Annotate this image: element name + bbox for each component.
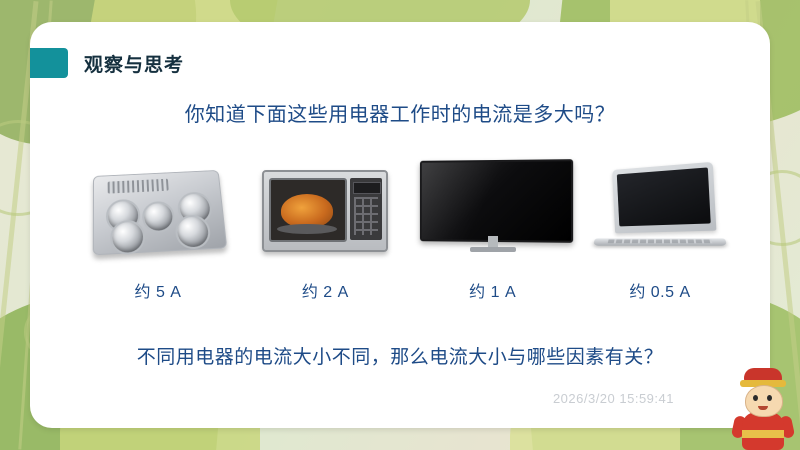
question-bottom: 不同用电器的电流大小不同，那么电流大小与哪些因素有关？: [30, 342, 770, 369]
device-image: [245, 142, 405, 252]
microwave-oven-icon: [262, 170, 388, 252]
device-image: [413, 142, 573, 252]
device-current-label: 约 2 A: [245, 278, 405, 302]
heater-bulb: [110, 219, 146, 255]
microwave-keypad: [354, 197, 378, 235]
slide-root: 观察与思考 你知道下面这些用电器工作时的电流是多大吗？ 约 5 A: [0, 0, 800, 450]
heater-bulb: [142, 201, 176, 234]
laptop-screen: [617, 167, 711, 226]
device-item-microwave-oven: 约 2 A: [245, 142, 405, 302]
section-title: 观察与思考: [84, 50, 184, 77]
microwave-control-panel: [350, 178, 382, 240]
television-icon: [418, 160, 568, 252]
device-current-label: 约 0.5 A: [580, 278, 740, 302]
device-item-laptop-computer: 约 0.5 A: [580, 142, 740, 302]
microwave-food: [281, 194, 333, 228]
laptop-base: [593, 238, 727, 245]
header-accent-tab: [30, 48, 68, 78]
tv-stand: [470, 247, 516, 252]
mascot-head: [745, 385, 783, 417]
laptop-computer-icon: [594, 166, 726, 252]
device-row: 约 5 A 约 2 A: [78, 142, 740, 302]
mascot-eye: [767, 395, 772, 401]
mascot-eye: [753, 395, 758, 401]
device-item-television: 约 1 A: [413, 142, 573, 302]
mascot-belt: [742, 430, 784, 438]
section-header: 观察与思考: [30, 48, 184, 78]
device-current-label: 约 5 A: [78, 278, 238, 302]
microwave-door: [269, 178, 347, 242]
mascot-character-icon: [732, 366, 794, 450]
microwave-plate: [277, 224, 337, 234]
tv-glare: [422, 161, 571, 241]
heater-vent: [108, 179, 169, 194]
laptop-keyboard: [608, 240, 713, 244]
content-card: 观察与思考 你知道下面这些用电器工作时的电流是多大吗？ 约 5 A: [30, 22, 770, 428]
tv-screen: [420, 159, 573, 243]
question-top: 你知道下面这些用电器工作时的电流是多大吗？: [30, 98, 770, 127]
timestamp-watermark: 2026/3/20 15:59:41: [553, 391, 674, 406]
laptop-lid: [612, 162, 716, 233]
device-image: [580, 142, 740, 252]
device-image: [78, 142, 238, 252]
device-item-bathroom-heater: 约 5 A: [78, 142, 238, 302]
bathroom-heater-icon: [93, 170, 228, 255]
device-current-label: 约 1 A: [413, 278, 573, 302]
microwave-display: [353, 182, 381, 194]
